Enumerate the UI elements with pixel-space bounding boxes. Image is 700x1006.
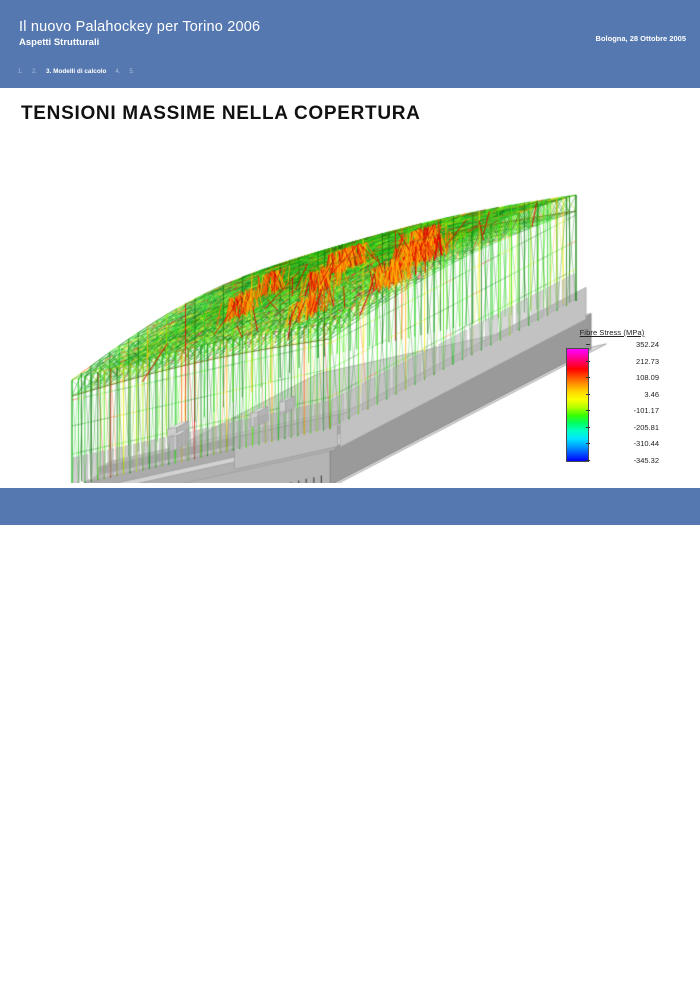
nav-item-3-modelli-di-calcolo[interactable]: 3. Modelli di calcolo <box>46 68 106 75</box>
legend-body: 352.24212.73108.093.46-101.17-205.81-310… <box>563 342 663 464</box>
stress-legend: Fibre Stress (MPa) 352.24212.73108.093.4… <box>563 328 663 464</box>
legend-tick: 352.24 <box>589 340 659 349</box>
footer-website-url[interactable]: www.favero-milan.com <box>605 997 686 1006</box>
legend-colorbar <box>566 348 589 462</box>
legend-tick-dash <box>586 427 590 428</box>
slide-title: TENSIONI MASSIME NELLA COPERTURA <box>21 103 421 125</box>
legend-tick-dash <box>586 410 590 411</box>
legend-title: Fibre Stress (MPa) <box>561 328 663 337</box>
legend-tick: 3.46 <box>589 390 659 399</box>
legend-tick-dash <box>586 460 590 461</box>
legend-tick: -345.32 <box>589 456 659 465</box>
nav-item-5[interactable]: 5. <box>129 69 134 75</box>
legend-tick: -101.17 <box>589 406 659 415</box>
deck-subtitle: Aspetti Strutturali <box>19 37 99 48</box>
slide-root: Il nuovo Palahockey per Torino 2006 Aspe… <box>0 0 700 525</box>
legend-tick-dash <box>586 344 590 345</box>
legend-tick-dash <box>586 443 590 444</box>
header-band: Il nuovo Palahockey per Torino 2006 Aspe… <box>0 0 700 88</box>
nav-item-4[interactable]: 4. <box>115 69 120 75</box>
legend-tick: 108.09 <box>589 373 659 382</box>
presentation-date: Bologna, 28 Ottobre 2005 <box>596 34 686 43</box>
footer-company-name: Favero & Milan Ingegneria <box>560 984 686 995</box>
legend-tick: -205.81 <box>589 423 659 432</box>
legend-tick-dash <box>586 394 590 395</box>
legend-tick-dash <box>586 361 590 362</box>
deck-title: Il nuovo Palahockey per Torino 2006 <box>19 19 260 35</box>
footer-band: Favero & Milan Ingegneria www.favero-mil… <box>0 488 700 525</box>
legend-tick-list: 352.24212.73108.093.46-101.17-205.81-310… <box>589 342 661 464</box>
nav-item-1[interactable]: 1. <box>18 69 23 75</box>
legend-tick-dash <box>586 377 590 378</box>
legend-tick: 212.73 <box>589 357 659 366</box>
section-nav[interactable]: 1. 2. 3. Modelli di calcolo 4. 5. <box>18 68 134 75</box>
legend-tick: -310.44 <box>589 439 659 448</box>
nav-item-2[interactable]: 2. <box>32 69 37 75</box>
